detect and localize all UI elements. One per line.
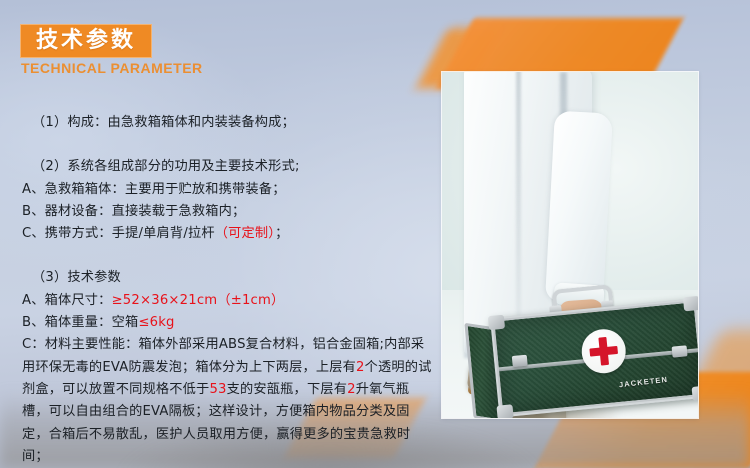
spec-3c-count-boxes: 2 [356,360,365,375]
page-subtitle: TECHNICAL PARAMETER [21,60,203,76]
paragraph-spacer-1 [22,134,434,156]
paragraph-spacer-2 [22,245,434,267]
product-photo: JACKETEN [442,72,698,418]
section-header: 技术参数 TECHNICAL PARAMETER [20,24,203,76]
spec-line-composition: （1）构成：由急救箱箱体和内装装备构成； [22,112,434,134]
slide-canvas: 技术参数 TECHNICAL PARAMETER （1）构成：由急救箱箱体和内装… [0,0,750,468]
spec-3a-label: A、箱体尺寸： [22,293,112,308]
spec-3b-value: ≤6kg [138,315,174,330]
spec-line-2a: A、急救箱箱体：主要用于贮放和携带装备； [22,179,434,201]
coat-fold-1 [516,72,521,350]
spec-heading-system: （2）系统各组成部分的功用及主要技术形式; [22,156,434,178]
spec-line-2c: C、携带方式：手提/单肩背/拉杆（可定制）； [22,223,434,245]
case-corner-bottom-right [692,385,698,400]
spec-3b-label: B、箱体重量：空箱 [22,315,138,330]
header-orange-band: 技术参数 [20,24,152,58]
spec-line-2b: B、器材设备：直接装载于急救箱内； [22,201,434,223]
spec-2c-suffix: ； [275,226,288,241]
spec-3c-text-3: 支的安瓿瓶，下层有 [227,382,348,397]
spec-2c-customizable-tag: （可定制） [215,226,275,241]
spec-3a-value: ≥52×36×21cm（±1cm） [112,293,285,308]
spec-3c-oxygen-liters: 2 [347,382,356,397]
spec-2c-prefix: C、携带方式：手提/单肩背/拉杆 [22,226,215,241]
first-aid-case: JACKETEN [490,298,698,418]
page-title: 技术参数 [36,27,136,53]
case-corner-top-right [683,296,698,311]
doctor-sleeve [545,111,613,304]
spec-line-3c: C：材料主要性能：箱体外部采用ABS复合材料，铝合金固箱;内部采用环保无毒的EV… [22,334,434,468]
spec-line-3a: A、箱体尺寸：≥52×36×21cm（±1cm） [22,290,434,312]
case-corner-top-left [488,315,505,330]
case-latch-left [512,355,528,367]
spec-line-3b: B、箱体重量：空箱≤6kg [22,312,434,334]
case-corner-bottom-left [496,404,513,418]
spec-heading-technical: （3）技术参数 [22,267,434,289]
case-latch-right [672,345,688,357]
specification-text-block: （1）构成：由急救箱箱体和内装装备构成； （2）系统各组成部分的功用及主要技术形… [22,112,434,468]
spec-3c-count-ampoules: 53 [209,382,226,397]
